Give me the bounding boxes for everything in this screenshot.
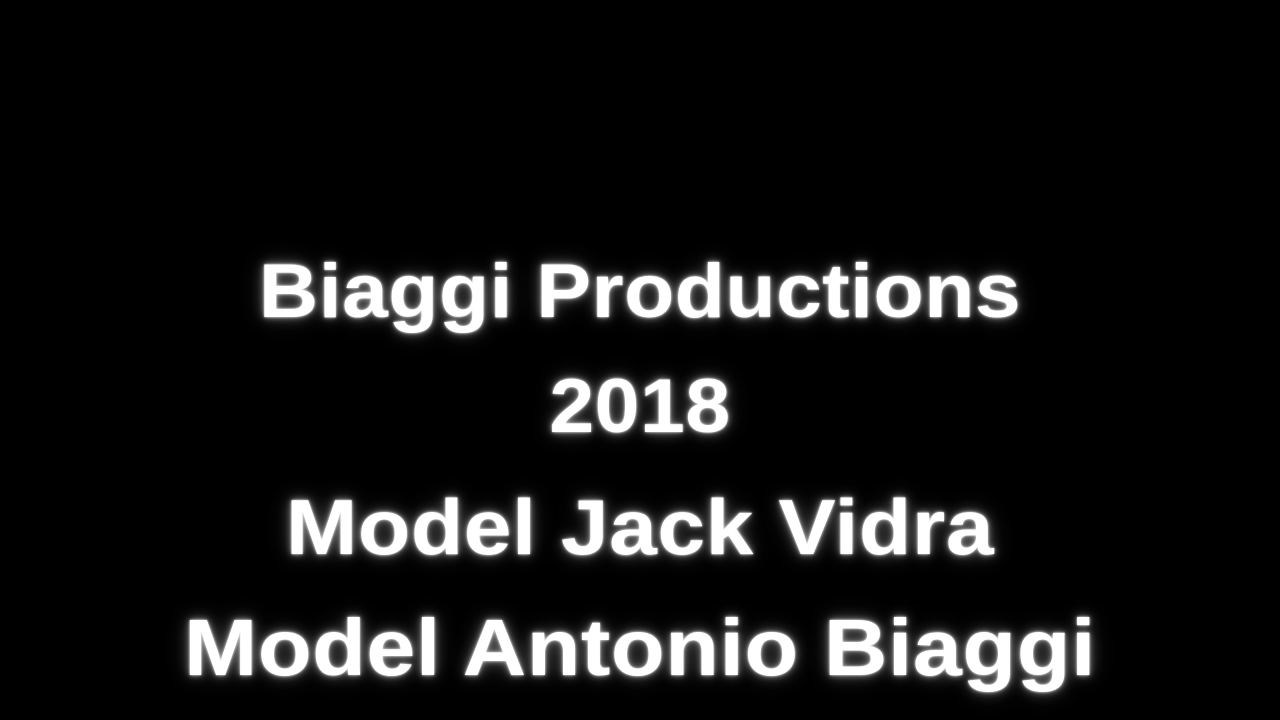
credit-line-company: Biaggi Productions bbox=[0, 254, 1280, 330]
credits-text-stack: Biaggi Productions 2018 Model Jack Vidra… bbox=[0, 0, 1280, 720]
credit-line-model-jack-vidra: Model Jack Vidra bbox=[0, 488, 1280, 566]
video-credits-frame: Biaggi Productions 2018 Model Jack Vidra… bbox=[0, 0, 1280, 720]
credit-line-year: 2018 bbox=[0, 369, 1280, 445]
credit-line-model-antonio-biaggi: Model Antonio Biaggi bbox=[0, 608, 1280, 688]
